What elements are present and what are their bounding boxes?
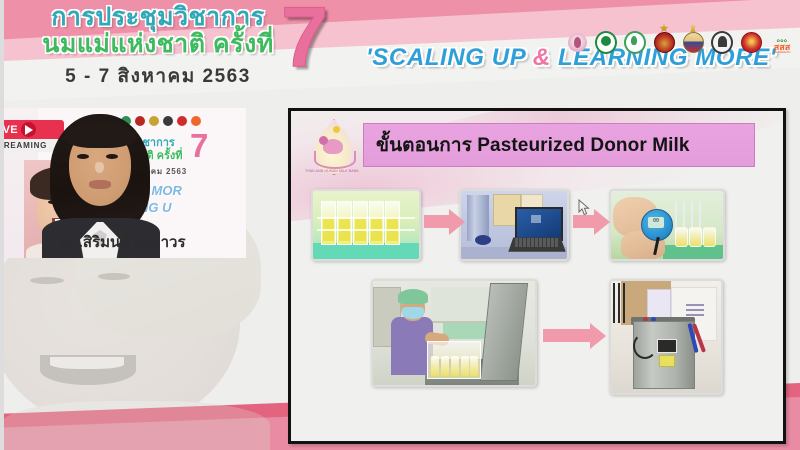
flow-arrow-1: [424, 215, 450, 228]
conference-title-line2: นมแม่แห่งชาติ ครั้งที่: [22, 31, 294, 58]
conference-title-line1: การประชุมวิชาการ: [22, 4, 294, 30]
red-circle-emblem-logo: [740, 28, 762, 56]
speaker-name-label: พว.สิริมนต์ คงถาวร: [0, 230, 246, 254]
pasteurizer-machine-photo: [609, 279, 723, 395]
conference-title: การประชุมวิชาการ นมแม่แห่งชาติ ครั้งที่ …: [22, 4, 294, 91]
thaihealth-logo: ✿✿✿ สสส THAI HEALTH: [769, 37, 795, 56]
slide-title-text: ขั้นตอนการ Pasteurized Donor Milk: [376, 130, 690, 160]
human-milk-bank-drop-logo: THAILAND HUMAN MILK BANK: [301, 117, 363, 183]
conference-dates: 5 - 7 สิงหาคม 2563: [22, 61, 294, 91]
presentation-slide[interactable]: THAILAND HUMAN MILK BANK ขั้นตอนการ Past…: [288, 108, 786, 444]
milk-bottles-rack-photo: [311, 189, 421, 261]
hand-holding-digital-timer-photo: 00: [609, 189, 725, 261]
play-triangle-icon: [21, 122, 36, 137]
royal-emblem-red-logo: [653, 28, 675, 56]
screen-left-edge: [0, 0, 4, 450]
human-milk-bank-logo-text: THAILAND HUMAN MILK BANK: [303, 169, 361, 173]
tagline-part1: 'SCALING UP: [366, 44, 525, 71]
timer-display-value: 00: [649, 218, 663, 224]
laptop-workstation-photo: [459, 189, 569, 261]
green-circle-logo-1: [595, 28, 617, 56]
slide-title-banner: ขั้นตอนการ Pasteurized Donor Milk: [363, 123, 755, 167]
flow-arrow-3: [543, 329, 591, 342]
royal-garuda-logo: [682, 28, 704, 56]
nurse-loading-pasteurizer-photo: [371, 279, 537, 387]
backdrop-edition-number: 7: [190, 130, 208, 161]
mouse-pointer: [578, 199, 591, 222]
black-circle-emblem-logo: [711, 28, 733, 56]
sponsor-logo-row: ✿✿✿ สสส THAI HEALTH: [566, 28, 795, 56]
mother-child-pink-logo: [566, 28, 588, 56]
thaihealth-logo-subtext: THAI HEALTH: [774, 52, 791, 55]
tagline-ampersand: &: [533, 44, 551, 71]
green-circle-logo-2: [624, 28, 646, 56]
edition-number: 7: [281, 0, 328, 79]
broadcast-screen: การประชุมวิชาการ นมแม่แห่งชาติ ครั้งที่ …: [0, 0, 800, 450]
